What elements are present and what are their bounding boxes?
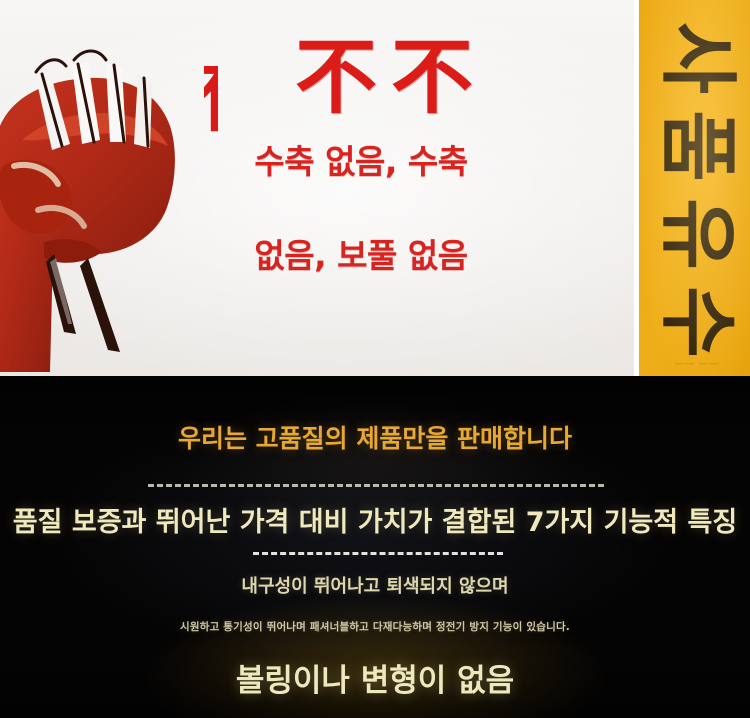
cut-off-glyph-char: 不	[204, 66, 218, 132]
cut-off-glyph: 不	[204, 66, 218, 132]
red-fist-icon	[0, 14, 202, 374]
top-light-panel: 不 不不 수축 없음, 수축 없음, 보풀 없음 사 품 유 수 —— ——	[0, 0, 750, 376]
dark-subline-durability: 내구성이 뛰어나고 퇴색되지 않으며	[0, 575, 750, 599]
red-feature-line-1: 수축 없음, 수축	[196, 142, 526, 182]
product-feature-banner: 不 不不 수축 없음, 수축 없음, 보풀 없음 사 품 유 수 —— —— 우…	[0, 0, 750, 718]
dashed-divider-upper	[148, 484, 604, 487]
yellow-side-panel: 사 품 유 수 —— ——	[634, 0, 750, 376]
red-feature-line-2: 없음, 보풀 없음	[196, 236, 526, 276]
big-negation-characters: 不不	[196, 30, 526, 126]
dark-headline-no-deformation: 볼링이나 변형이 없음	[0, 661, 750, 701]
dark-headline-primary: 우리는 고품질의 제품만을 판매합니다	[0, 424, 750, 454]
dark-fine-print: 시원하고 통기성이 뛰어나며 패셔너블하고 다재다능하며 정전기 방지 기능이 …	[0, 619, 750, 635]
dark-headline-features: 품질 보증과 뛰어난 가격 대비 가치가 결합된 7가지 기능적 특징	[0, 506, 750, 540]
hero-text-block: 不 不不 수축 없음, 수축 없음, 보풀 없음	[196, 30, 526, 276]
dashed-divider-lower	[253, 552, 503, 555]
dark-feature-panel: 우리는 고품질의 제품만을 판매합니다 품질 보증과 뛰어난 가격 대비 가치가…	[0, 376, 750, 718]
yellow-panel-watermark: —— ——	[639, 358, 750, 368]
vertical-korean-text: 사 품 유 수	[639, 14, 750, 366]
